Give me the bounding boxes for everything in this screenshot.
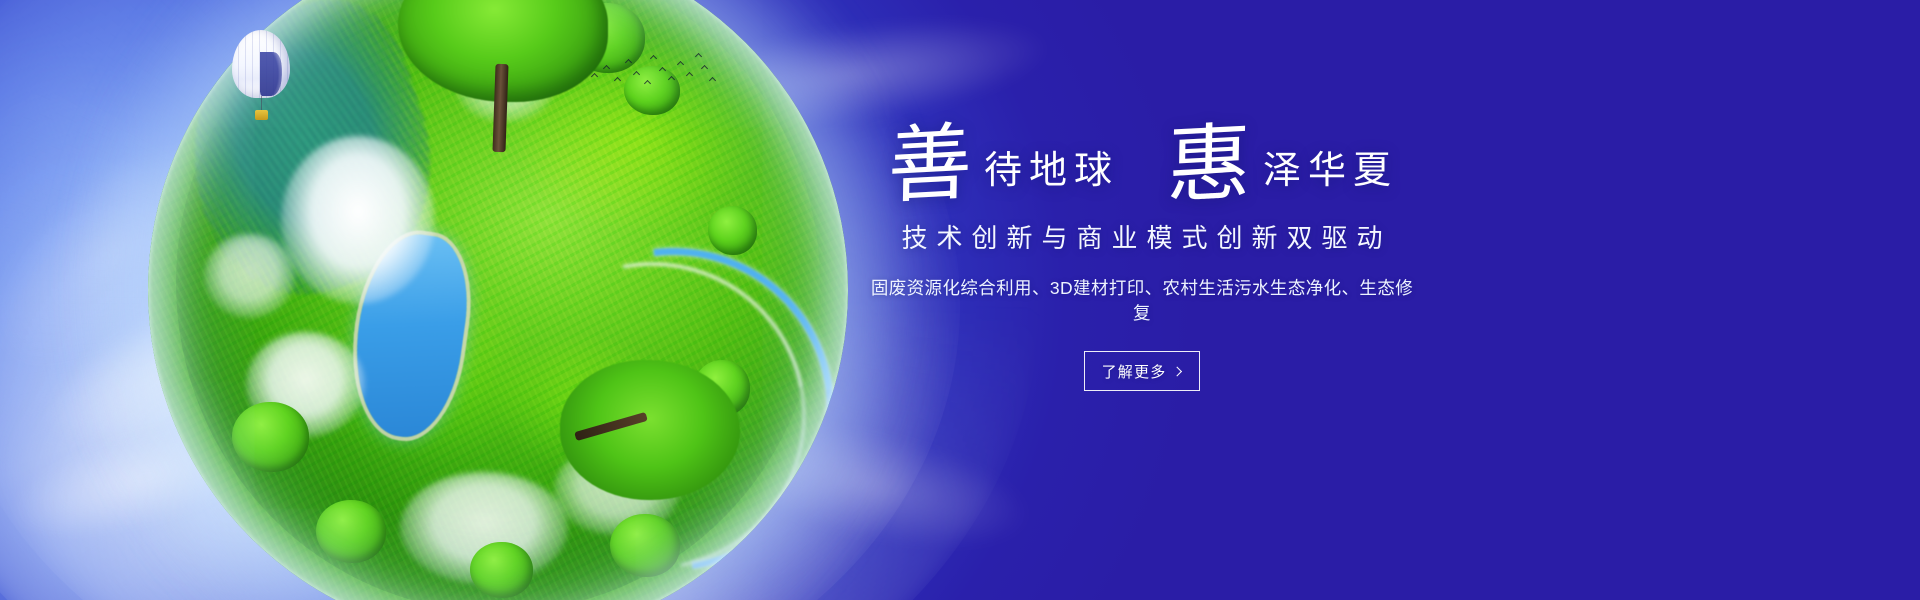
hero-content: 善 待地球 惠 泽华夏 技术创新与商业模式创新双驱动 固废资源化综合利用、3D建… bbox=[862, 118, 1422, 391]
tree-trunk bbox=[574, 412, 648, 441]
page-title: 善 待地球 惠 泽华夏 bbox=[862, 118, 1422, 202]
balloon-envelope bbox=[232, 30, 290, 98]
balloon-basket bbox=[255, 110, 268, 120]
foreground-tree-icon bbox=[560, 330, 740, 510]
headline-text-daidiqiu: 待地球 bbox=[974, 152, 1119, 202]
riverbank bbox=[438, 202, 848, 600]
planet-rim-light bbox=[148, 0, 848, 600]
tree-canopy bbox=[398, 0, 608, 102]
tree-icon bbox=[624, 66, 680, 115]
tree-icon bbox=[456, 24, 519, 80]
tree-canopy bbox=[560, 360, 740, 500]
cloud-icon bbox=[554, 444, 680, 535]
tree-icon bbox=[232, 402, 309, 472]
lake-icon bbox=[344, 228, 476, 444]
planet-sphere bbox=[148, 0, 848, 600]
cta-row: 了解更多 bbox=[862, 351, 1422, 391]
balloon-rope bbox=[261, 96, 262, 112]
cloud-wisp bbox=[692, 396, 1047, 574]
tree-icon bbox=[708, 206, 757, 255]
cloud-wisp bbox=[122, 0, 477, 259]
headline-text-zehuaxia: 泽华夏 bbox=[1253, 152, 1398, 202]
cloud-icon bbox=[400, 472, 568, 584]
headline-char-shan: 善 bbox=[885, 120, 974, 209]
cloud-icon bbox=[281, 136, 435, 304]
planet-atmosphere-glow bbox=[78, 0, 918, 600]
tiny-planet-illustration bbox=[148, 0, 848, 600]
tree-icon bbox=[694, 360, 750, 416]
mountain-ridge bbox=[153, 0, 466, 320]
planet-grass-texture bbox=[148, 0, 848, 600]
planet-landmass bbox=[176, 0, 820, 600]
tree-trunk bbox=[492, 64, 508, 152]
page-subtitle: 技术创新与商业模式创新双驱动 bbox=[862, 218, 1422, 255]
cloud-wisp bbox=[20, 238, 370, 482]
learn-more-button[interactable]: 了解更多 bbox=[1084, 351, 1200, 391]
chevron-right-icon bbox=[1173, 366, 1183, 376]
tree-icon bbox=[316, 500, 386, 563]
tree-icon bbox=[568, 3, 645, 73]
cloud-icon bbox=[246, 332, 365, 437]
bird-flock-icon bbox=[588, 48, 718, 90]
balloon-stripe bbox=[260, 52, 282, 96]
headline-char-hui: 惠 bbox=[1164, 120, 1253, 209]
hero-tree-icon bbox=[398, 0, 608, 152]
hot-air-balloon-icon bbox=[232, 30, 290, 126]
river-icon bbox=[447, 183, 848, 600]
tree-icon bbox=[610, 514, 680, 577]
cloud-wisp bbox=[0, 392, 297, 563]
cloud-icon bbox=[456, 52, 554, 122]
hero-banner: 善 待地球 惠 泽华夏 技术创新与商业模式创新双驱动 固废资源化综合利用、3D建… bbox=[0, 0, 1920, 600]
page-description: 固废资源化综合利用、3D建材打印、农村生活污水生态净化、生态修复 bbox=[862, 275, 1422, 325]
cloud-swirl-inner bbox=[0, 0, 960, 600]
tree-icon bbox=[470, 542, 533, 598]
cloud-wisp bbox=[0, 99, 272, 411]
cloud-icon bbox=[204, 234, 295, 318]
planet-edge bbox=[148, 0, 848, 600]
learn-more-label: 了解更多 bbox=[1102, 361, 1167, 382]
